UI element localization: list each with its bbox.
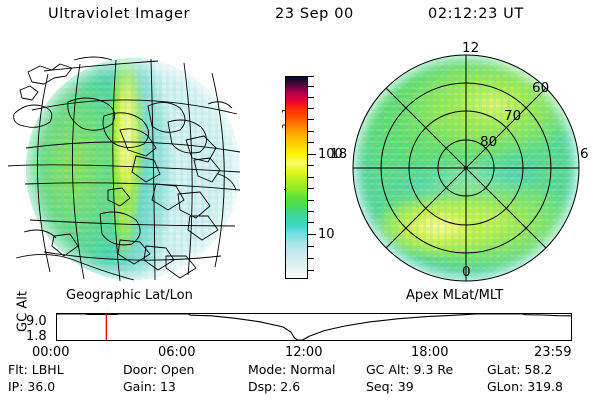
uvi-display-window: Ultraviolet Imager 23 Sep 00 02:12:23 UT: [0, 0, 600, 400]
status-glat: GLat: 58.2: [487, 362, 552, 377]
status-gain: Gain: 13: [123, 379, 176, 394]
colorbar-panel: photon cm-2s-1 10010: [262, 60, 357, 290]
colorbar-minor-tick: [307, 119, 314, 120]
colorbar-minor-tick: [307, 142, 314, 143]
seq-label: Seq:: [366, 379, 394, 394]
globe-panel-caption: Geographic Lat/Lon: [66, 288, 193, 303]
gcalt-value: 9.3 Re: [414, 362, 454, 377]
globe-overlay: [8, 44, 258, 288]
ip-value: 36.0: [27, 379, 55, 394]
altitude-plot-box[interactable]: [56, 313, 572, 341]
observation-date: 23 Sep 00: [275, 6, 354, 22]
altitude-curve-svg: [57, 314, 571, 340]
orbit-altitude-panel[interactable]: Geographic Lat/Lon Apex MLat/MLT GC Alt …: [0, 288, 600, 354]
door-value: Open: [161, 362, 194, 377]
mlt-label: 6: [580, 148, 589, 162]
colorbar-tick-label: 10: [318, 228, 335, 241]
colorbar-gradient: [285, 76, 308, 279]
colorbar-minor-tick: [307, 76, 314, 77]
colorbar-minor-tick: [307, 131, 314, 132]
door-label: Door:: [123, 362, 157, 377]
colorbar-minor-tick: [307, 246, 314, 247]
glon-label: GLon:: [487, 379, 523, 394]
status-gc-alt: GC Alt: 9.3 Re: [366, 362, 453, 377]
status-dsp: Dsp: 2.6: [248, 379, 300, 394]
colorbar-minor-tick: [307, 270, 314, 271]
mlat-ring-label: 80: [480, 136, 497, 150]
colorbar-minor-tick: [307, 222, 314, 223]
time-axis-label: 18:00: [411, 345, 448, 360]
geographic-globe-panel[interactable]: [8, 44, 258, 288]
mlat-ring-label: 60: [532, 82, 549, 96]
altitude-ytick-bottom: 1.8: [26, 330, 47, 343]
mlt-label: 18: [330, 148, 347, 162]
colorbar-minor-tick: [307, 200, 314, 201]
colorbar-minor-tick: [307, 165, 314, 166]
colorbar-major-tick: [307, 154, 316, 155]
time-axis-label: 00:00: [32, 345, 69, 360]
mlt-label: 12: [462, 42, 479, 56]
altitude-ytick-top: 9.0: [26, 315, 47, 328]
colorbar-major-tick: [307, 234, 316, 235]
glat-label: GLat:: [487, 362, 520, 377]
seq-value: 39: [398, 379, 414, 394]
status-door: Door: Open: [123, 362, 194, 377]
time-axis-label: 23:59: [534, 345, 571, 360]
mlt-label: 0: [462, 266, 471, 280]
polar-panel-caption: Apex MLat/MLT: [406, 288, 503, 303]
colorbar-minor-tick: [307, 188, 314, 189]
colorbar-minor-tick: [307, 108, 314, 109]
polar-grid-overlay: [352, 44, 592, 290]
status-ip: IP: 36.0: [8, 379, 55, 394]
status-seq: Seq: 39: [366, 379, 414, 394]
status-mode: Mode: Normal: [248, 362, 336, 377]
mlat-ring-label: 70: [504, 110, 521, 124]
colorbar-minor-tick: [307, 177, 314, 178]
time-axis-label: 12:00: [285, 345, 322, 360]
status-glon: GLon: 319.8: [487, 379, 563, 394]
colorbar-minor-tick: [307, 258, 314, 259]
glon-value: 319.8: [527, 379, 563, 394]
colorbar-minor-tick: [307, 86, 314, 87]
mode-label: Mode:: [248, 362, 286, 377]
altitude-curve: [57, 314, 571, 340]
colorbar-minor-tick: [307, 211, 314, 212]
mode-value: Normal: [290, 362, 335, 377]
glat-value: 58.2: [524, 362, 552, 377]
dsp-label: Dsp:: [248, 379, 276, 394]
colorbar-minor-tick: [307, 97, 314, 98]
flt-value: LBHL: [32, 362, 64, 377]
observation-time-ut: 02:12:23 UT: [428, 6, 524, 22]
apex-polar-panel[interactable]: 121860807060: [352, 44, 592, 290]
time-axis-label: 06:00: [158, 345, 195, 360]
dsp-value: 2.6: [280, 379, 300, 394]
ip-label: IP:: [8, 379, 23, 394]
gain-value: 13: [160, 379, 176, 394]
gain-label: Gain:: [123, 379, 156, 394]
status-flt: Flt: LBHL: [8, 362, 64, 377]
gcalt-label: GC Alt:: [366, 362, 410, 377]
instrument-title: Ultraviolet Imager: [48, 6, 190, 22]
flt-label: Flt:: [8, 362, 28, 377]
status-footer: Flt: LBHL IP: 36.0 Door: Open Gain: 13 M…: [0, 362, 600, 400]
